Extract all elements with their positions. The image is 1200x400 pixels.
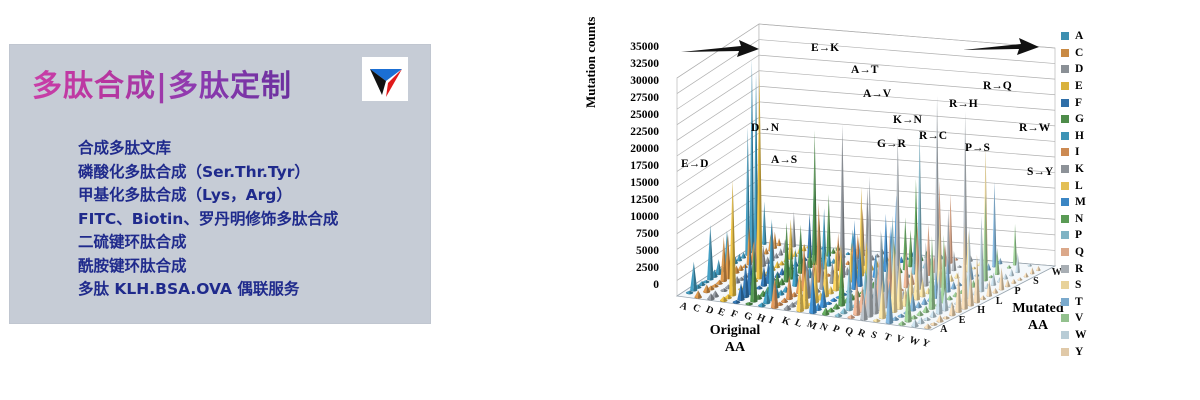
- y-tick-label: 2500: [636, 263, 659, 273]
- legend: ACDEFGHIKLMNPQRSTVWY: [1061, 28, 1121, 360]
- legend-label: M: [1075, 197, 1086, 207]
- legend-item[interactable]: G: [1061, 111, 1121, 128]
- company-logo-icon: [362, 57, 408, 101]
- legend-label: H: [1075, 131, 1084, 141]
- legend-label: D: [1075, 64, 1083, 74]
- data-annotation: D→N: [751, 122, 779, 134]
- data-annotation: A→S: [771, 154, 797, 166]
- legend-label: Q: [1075, 247, 1084, 257]
- legend-item[interactable]: S: [1061, 277, 1121, 294]
- legend-item[interactable]: F: [1061, 94, 1121, 111]
- legend-swatch-icon: [1061, 314, 1069, 322]
- legend-swatch-icon: [1061, 165, 1069, 173]
- y-tick-label: 7500: [636, 229, 659, 239]
- legend-label: S: [1075, 280, 1081, 290]
- legend-swatch-icon: [1061, 32, 1069, 40]
- legend-swatch-icon: [1061, 49, 1069, 57]
- legend-label: A: [1075, 31, 1083, 41]
- legend-label: P: [1075, 230, 1082, 240]
- legend-swatch-icon: [1061, 298, 1069, 306]
- z-axis-tick-label: A: [940, 324, 947, 335]
- legend-label: T: [1075, 297, 1083, 307]
- data-annotation: R→C: [919, 130, 947, 142]
- legend-label: Y: [1075, 347, 1083, 357]
- legend-swatch-icon: [1061, 215, 1069, 223]
- promo-panel: 多肽合成|多肽定制 合成多肽文库 磷酸化多肽合成（Ser.Thr.Tyr） 甲基…: [10, 45, 430, 323]
- list-item: 甲基化多肽合成（Lys，Arg）: [78, 184, 420, 208]
- y-tick-label: 10000: [630, 212, 659, 222]
- y-tick-label: 5000: [636, 246, 659, 256]
- legend-item[interactable]: A: [1061, 28, 1121, 45]
- x-axis-tick-label: T: [882, 331, 893, 344]
- list-item: FITC、Biotin、罗丹明修饰多肽合成: [78, 208, 420, 232]
- legend-item[interactable]: D: [1061, 61, 1121, 78]
- list-item: 合成多肽文库: [78, 137, 420, 161]
- y-tick-label: 17500: [630, 161, 659, 171]
- x-axis-tick-label: W: [907, 334, 921, 348]
- y-tick-label: 12500: [630, 195, 659, 205]
- legend-swatch-icon: [1061, 348, 1069, 356]
- data-annotation: R→W: [1019, 122, 1050, 134]
- company-logo-svg: [362, 57, 408, 101]
- legend-item[interactable]: E: [1061, 78, 1121, 95]
- legend-swatch-icon: [1061, 65, 1069, 73]
- legend-label: I: [1075, 147, 1079, 157]
- data-annotation: P→S: [965, 142, 990, 154]
- list-item: 酰胺键环肽合成: [78, 255, 420, 279]
- data-annotation: S→Y: [1027, 166, 1053, 178]
- legend-label: V: [1075, 313, 1083, 323]
- legend-swatch-icon: [1061, 182, 1069, 190]
- legend-item[interactable]: I: [1061, 144, 1121, 161]
- y-tick-label: 30000: [630, 76, 659, 86]
- data-annotation: E→D: [681, 158, 708, 170]
- legend-item[interactable]: T: [1061, 294, 1121, 311]
- legend-item[interactable]: M: [1061, 194, 1121, 211]
- data-annotation: E→K: [811, 42, 839, 54]
- y-axis-ticks: 3500032500300002750025000225002000017500…: [597, 42, 659, 282]
- legend-item[interactable]: W: [1061, 327, 1121, 344]
- legend-swatch-icon: [1061, 115, 1069, 123]
- x-axis-tick-label: V: [894, 333, 905, 346]
- legend-swatch-icon: [1061, 99, 1069, 107]
- screenshot-root: 多肽合成|多肽定制 合成多肽文库 磷酸化多肽合成（Ser.Thr.Tyr） 甲基…: [0, 0, 1200, 400]
- z-axis-tick-label: P: [1015, 286, 1021, 297]
- legend-swatch-icon: [1061, 82, 1069, 90]
- legend-swatch-icon: [1061, 148, 1069, 156]
- z-axis-tick-label: H: [977, 305, 985, 316]
- data-annotation: R→H: [949, 98, 978, 110]
- y-tick-label: 32500: [630, 59, 659, 69]
- legend-label: L: [1075, 181, 1083, 191]
- y-tick-label: 27500: [630, 93, 659, 103]
- data-annotation: A→V: [863, 88, 891, 100]
- y-tick-label: 25000: [630, 110, 659, 120]
- legend-item[interactable]: Y: [1061, 343, 1121, 360]
- y-tick-label: 22500: [630, 127, 659, 137]
- legend-item[interactable]: P: [1061, 227, 1121, 244]
- z-axis-tick-label: E: [959, 315, 966, 326]
- legend-swatch-icon: [1061, 281, 1069, 289]
- data-annotation: A→T: [851, 64, 878, 76]
- legend-item[interactable]: H: [1061, 128, 1121, 145]
- x-axis-tick-label: Q: [844, 325, 856, 338]
- y-tick-label: 0: [653, 280, 659, 290]
- legend-item[interactable]: K: [1061, 161, 1121, 178]
- legend-swatch-icon: [1061, 331, 1069, 339]
- legend-swatch-icon: [1061, 231, 1069, 239]
- legend-swatch-icon: [1061, 265, 1069, 273]
- promo-service-list: 合成多肽文库 磷酸化多肽合成（Ser.Thr.Tyr） 甲基化多肽合成（Lys，…: [38, 137, 420, 302]
- list-item: 二硫键环肽合成: [78, 231, 420, 255]
- mutation-counts-chart: Mutation counts 350003250030000275002500…: [575, 0, 1200, 400]
- x-axis-title: OriginalAA: [687, 322, 783, 356]
- promo-title: 多肽合成|多肽定制: [32, 61, 292, 105]
- y-tick-label: 15000: [630, 178, 659, 188]
- data-annotation: G→R: [877, 138, 906, 150]
- legend-label: E: [1075, 81, 1083, 91]
- legend-label: K: [1075, 164, 1084, 174]
- plot-area: ACDEFGHIKLMNPQRSTVWYAEHLPSW E→DD→NA→SE→K…: [663, 30, 1063, 330]
- list-item: 磷酸化多肽合成（Ser.Thr.Tyr）: [78, 161, 420, 185]
- y-tick-label: 35000: [630, 42, 659, 52]
- legend-swatch-icon: [1061, 248, 1069, 256]
- legend-item[interactable]: L: [1061, 177, 1121, 194]
- legend-label: W: [1075, 330, 1087, 340]
- legend-label: R: [1075, 264, 1083, 274]
- legend-item[interactable]: C: [1061, 45, 1121, 62]
- legend-label: C: [1075, 48, 1083, 58]
- legend-swatch-icon: [1061, 198, 1069, 206]
- z-axis-tick-label: S: [1033, 276, 1039, 287]
- legend-item[interactable]: V: [1061, 310, 1121, 327]
- legend-item[interactable]: Q: [1061, 244, 1121, 261]
- legend-label: G: [1075, 114, 1084, 124]
- legend-label: N: [1075, 214, 1083, 224]
- x-axis-tick-label: M: [806, 319, 819, 333]
- legend-label: F: [1075, 98, 1082, 108]
- data-annotation: R→Q: [983, 80, 1012, 92]
- legend-swatch-icon: [1061, 132, 1069, 140]
- legend-item[interactable]: N: [1061, 211, 1121, 228]
- x-axis-tick-label: S: [869, 329, 879, 341]
- y-tick-label: 20000: [630, 144, 659, 154]
- data-annotation: K→N: [893, 114, 922, 126]
- x-axis-tick-label: Y: [920, 337, 931, 350]
- legend-item[interactable]: R: [1061, 260, 1121, 277]
- list-item: 多肽 KLH.BSA.OVA 偶联服务: [78, 278, 420, 302]
